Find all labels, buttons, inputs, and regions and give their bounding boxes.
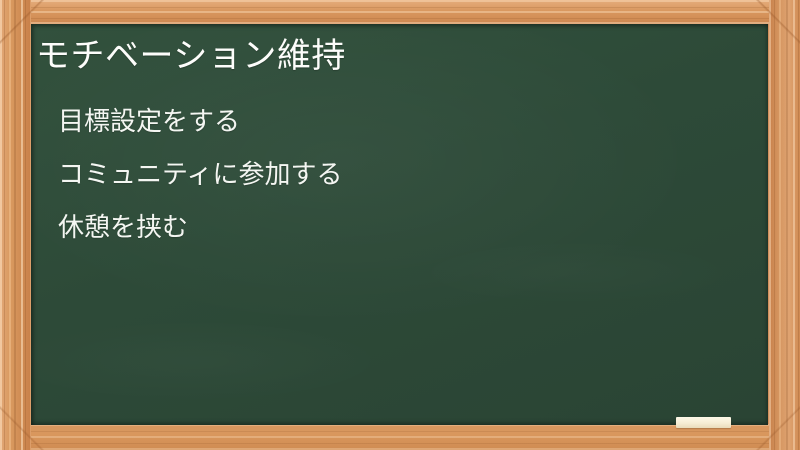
chalk-stick (676, 417, 731, 428)
list-item: コミュニティに参加する (58, 157, 748, 191)
slide-title: モチベーション維持 (36, 34, 346, 78)
chalkboard-frame: モチベーション維持 目標設定をする コミュニティに参加する 休憩を挟む (0, 0, 800, 450)
board-content: モチベーション維持 目標設定をする コミュニティに参加する 休憩を挟む (31, 24, 768, 425)
list-item: 休憩を挟む (58, 210, 748, 244)
bullet-list: 目標設定をする コミュニティに参加する 休憩を挟む (58, 104, 748, 244)
list-item: 目標設定をする (58, 104, 748, 138)
frame-stile-right (769, 0, 800, 450)
frame-stile-left (0, 0, 31, 450)
chalkboard-surface: モチベーション維持 目標設定をする コミュニティに参加する 休憩を挟む (31, 24, 768, 425)
frame-rail-top (0, 0, 800, 24)
